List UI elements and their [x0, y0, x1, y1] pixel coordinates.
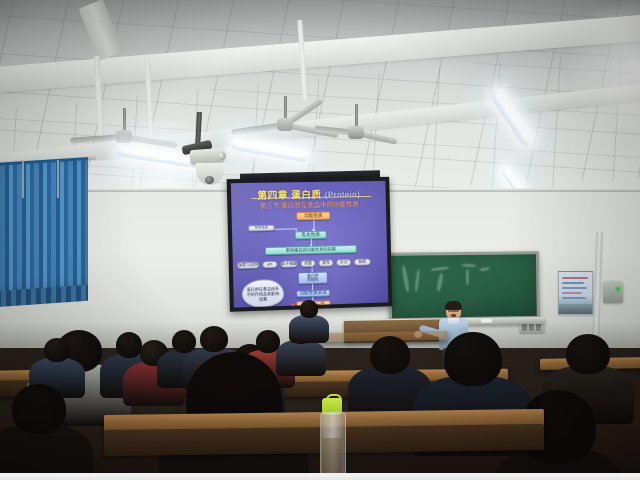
poster-text-line [562, 282, 584, 284]
slide-cloud-callout: 蛋白质在食品体系中的作用及其影响因素 [241, 279, 284, 308]
chalk-mark [466, 269, 469, 285]
slide-pill-5: 变性 [318, 259, 333, 266]
fan-hub [348, 126, 364, 139]
slide-pill-7: 脂肪 [354, 258, 371, 265]
slide-node-hydration: 水合性质 [248, 225, 274, 232]
slide-pill-3: 离子强度 [280, 260, 297, 267]
wall-poster [558, 271, 593, 315]
photo-bottom-border [0, 473, 640, 477]
student-head [566, 334, 610, 374]
slide-edge [275, 228, 297, 229]
chalk-mark [462, 264, 476, 268]
glasses-icon [448, 309, 459, 312]
slide-subtitle: 第三节 蛋白质在食品中的功能性质 [231, 198, 386, 211]
student-head [44, 338, 70, 362]
student-shoulders [289, 315, 329, 343]
water-bottle [320, 398, 344, 480]
poster-text-line [562, 287, 587, 289]
slide-pill-6: 水分 [336, 259, 351, 266]
poster-text-line [562, 292, 582, 294]
poster-text-line [562, 277, 588, 279]
slide-pill-2: pH [262, 261, 277, 268]
electrical-panel[interactable] [603, 281, 623, 303]
chalk-mark [414, 269, 420, 291]
dome-camera-icon [205, 176, 214, 184]
student-head [300, 300, 318, 318]
lecturer-mouth [451, 314, 456, 317]
poster-photo [559, 304, 592, 314]
chalk-mark [401, 266, 409, 292]
student-head [444, 332, 502, 386]
status-led-icon [616, 287, 620, 291]
student-head [200, 326, 228, 352]
slide-marker-dot [291, 304, 294, 307]
slide-pill-1: 温度与加热 [237, 261, 260, 269]
lecture-hall-photo: 第四章 蛋白质 (Protein) 第三节 蛋白质在食品中的功能性质 功能性质 … [0, 0, 640, 480]
poster-text-line [562, 297, 586, 299]
student-head [172, 330, 196, 353]
bottle-water [322, 438, 342, 478]
curtain-hanger [57, 160, 59, 198]
slide-pill-4: 浓度 [300, 260, 315, 267]
student-head [12, 384, 66, 434]
projection-screen: 第四章 蛋白质 (Protein) 第三节 蛋白质在食品中的功能性质 功能性质 … [227, 177, 393, 312]
student-shoulders [276, 340, 326, 376]
curtain-hanger [22, 160, 24, 198]
projector-lens-icon [218, 152, 226, 160]
student-head [116, 332, 142, 358]
chalk-mark [436, 273, 443, 291]
window-curtain [0, 160, 88, 304]
presentation-slide: 第四章 蛋白质 (Protein) 第三节 蛋白质在食品中的功能性质 功能性质 … [231, 181, 388, 308]
chalk-mark [431, 266, 449, 271]
student-head [370, 336, 410, 374]
slide-node-structure: 蛋白质 的结构 [298, 272, 328, 285]
fan-hub [277, 118, 293, 131]
fan-hub [116, 130, 132, 143]
slide-node-factors: 影响蛋白质功能性质的因素 [265, 245, 357, 255]
chalk-mark [480, 267, 490, 272]
